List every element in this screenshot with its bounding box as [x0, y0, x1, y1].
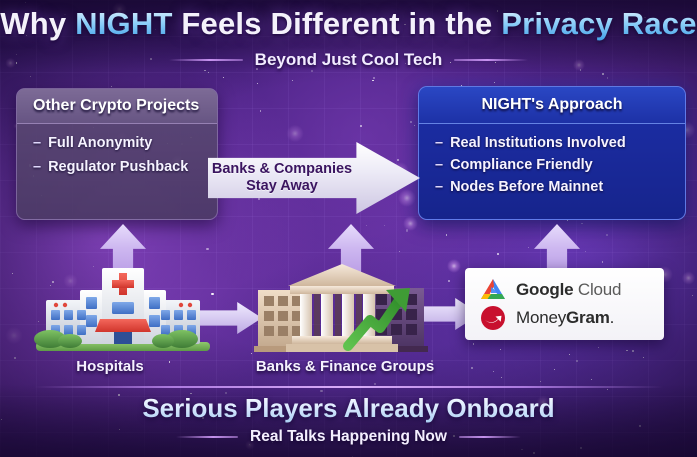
card-other-crypto-projects: Other Crypto Projects – Full Anonymity –… [16, 88, 218, 220]
logo-row-moneygram: MoneyGram. [479, 305, 664, 331]
footer-subtitle: Real Talks Happening Now [250, 428, 447, 446]
list-item: – Full Anonymity [33, 135, 217, 151]
title-segment-1: Why [0, 6, 75, 41]
card-right-body: – Real Institutions Involved – Complianc… [419, 124, 685, 195]
subtitle-row: Beyond Just Cool Tech [0, 50, 697, 70]
hospital-illustration [32, 262, 214, 358]
footer-divider [34, 386, 663, 388]
gram-word: Gram [566, 308, 610, 327]
footer-subtitle-row: Real Talks Happening Now [0, 428, 697, 446]
page-subtitle: Beyond Just Cool Tech [255, 50, 443, 70]
money-word: Money [516, 308, 566, 327]
dash-icon: – [435, 179, 443, 195]
list-item-label: Real Institutions Involved [450, 135, 626, 151]
dash-icon: – [435, 135, 443, 151]
center-arrow-line-2: Stay Away [208, 178, 356, 195]
center-arrow-line-1: Banks & Companies [208, 161, 356, 178]
arrow-right-icon-large: Banks & Companies Stay Away [208, 142, 420, 214]
moneygram-icon [479, 305, 507, 331]
subtitle-rule-right [454, 59, 528, 61]
partner-logos-panel: Google Cloud MoneyGram. [465, 268, 664, 340]
google-word: Google [516, 280, 573, 299]
list-item: – Real Institutions Involved [435, 135, 685, 151]
moneygram-dot: . [610, 308, 615, 327]
logo-row-google-cloud: Google Cloud [479, 278, 664, 302]
list-item: – Regulator Pushback [33, 159, 217, 175]
card-right-title: NIGHT's Approach [482, 96, 623, 114]
list-item: – Nodes Before Mainnet [435, 179, 685, 195]
card-left-header: Other Crypto Projects [17, 89, 217, 124]
list-item-label: Regulator Pushback [48, 159, 188, 175]
bank-illustration [252, 262, 438, 358]
footer-rule-left [176, 436, 238, 438]
center-arrow-label: Banks & Companies Stay Away [208, 161, 356, 195]
dash-icon: – [435, 157, 443, 173]
footer-rule-right [459, 436, 521, 438]
page-title: Why NIGHT Feels Different in the Privacy… [0, 6, 697, 42]
moneygram-wordmark: MoneyGram. [516, 308, 614, 328]
list-item-label: Full Anonymity [48, 135, 152, 151]
cloud-word: Cloud [573, 280, 621, 299]
title-accent-night: NIGHT [75, 6, 172, 41]
subtitle-rule-left [169, 59, 243, 61]
list-item-label: Nodes Before Mainnet [450, 179, 603, 195]
card-nights-approach: NIGHT's Approach – Real Institutions Inv… [418, 86, 686, 220]
card-left-title: Other Crypto Projects [33, 97, 199, 115]
infographic-canvas: Why NIGHT Feels Different in the Privacy… [0, 0, 697, 457]
title-segment-2: Feels Different in the [173, 6, 502, 41]
google-cloud-wordmark: Google Cloud [516, 280, 621, 300]
card-left-body: – Full Anonymity – Regulator Pushback [17, 124, 217, 175]
dash-icon: – [33, 159, 41, 175]
google-cloud-icon [479, 278, 507, 302]
card-right-header: NIGHT's Approach [419, 87, 685, 124]
bank-label: Banks & Finance Groups [250, 358, 440, 375]
footer-title: Serious Players Already Onboard [0, 393, 697, 424]
hospital-label: Hospitals [55, 358, 165, 375]
dash-icon: – [33, 135, 41, 151]
title-accent-privacy-race: Privacy Race [501, 6, 696, 41]
list-item-label: Compliance Friendly [450, 157, 593, 173]
list-item: – Compliance Friendly [435, 157, 685, 173]
